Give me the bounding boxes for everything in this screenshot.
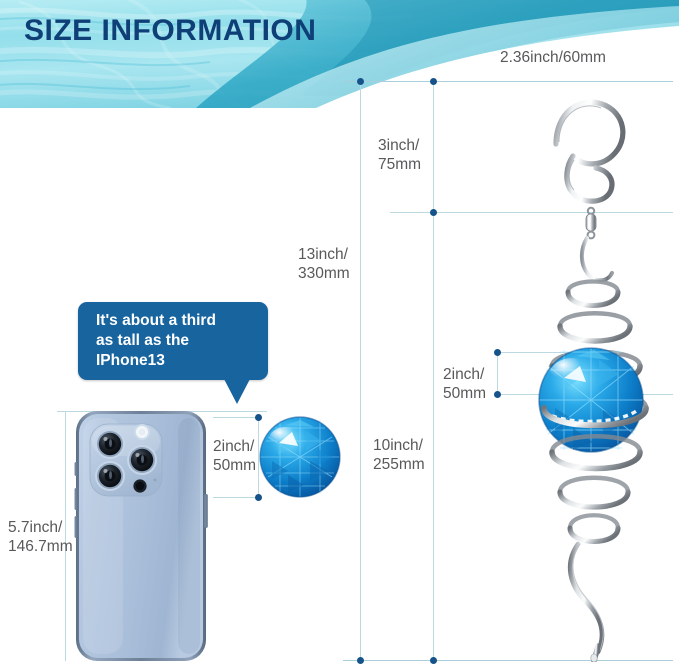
dim-dot-split-top: [430, 78, 437, 85]
size-information-infographic: SIZE INFORMATION 2.36inch/60mm 3inch/ 75…: [0, 0, 679, 666]
dim-line-segment-split: [433, 81, 434, 660]
callout-bubble-tail: [224, 379, 250, 404]
dim-dot-total-bottom: [357, 657, 364, 664]
label-iphone-height: 5.7inch/ 146.7mm: [8, 518, 73, 556]
label-total-height: 13inch/ 330mm: [298, 245, 350, 283]
dim-line-total-height: [360, 81, 361, 660]
dim-dot-split-bottom: [430, 657, 437, 664]
label-body-height: 10inch/ 255mm: [373, 436, 425, 474]
crystal-ball-image: [258, 415, 343, 499]
callout-bubble: It's about a third as tall as the IPhone…: [78, 302, 268, 380]
dim-dot-total-top: [357, 78, 364, 85]
label-spinner-width: 2.36inch/60mm: [500, 48, 606, 67]
spiral-wind-spinner-image: [460, 78, 650, 662]
label-hook-height: 3inch/ 75mm: [378, 136, 421, 174]
dim-dot-split-mid: [430, 209, 437, 216]
callout-text: It's about a third as tall as the IPhone…: [96, 311, 261, 371]
page-title: SIZE INFORMATION: [24, 14, 316, 48]
iphone-13-image: [74, 410, 224, 662]
